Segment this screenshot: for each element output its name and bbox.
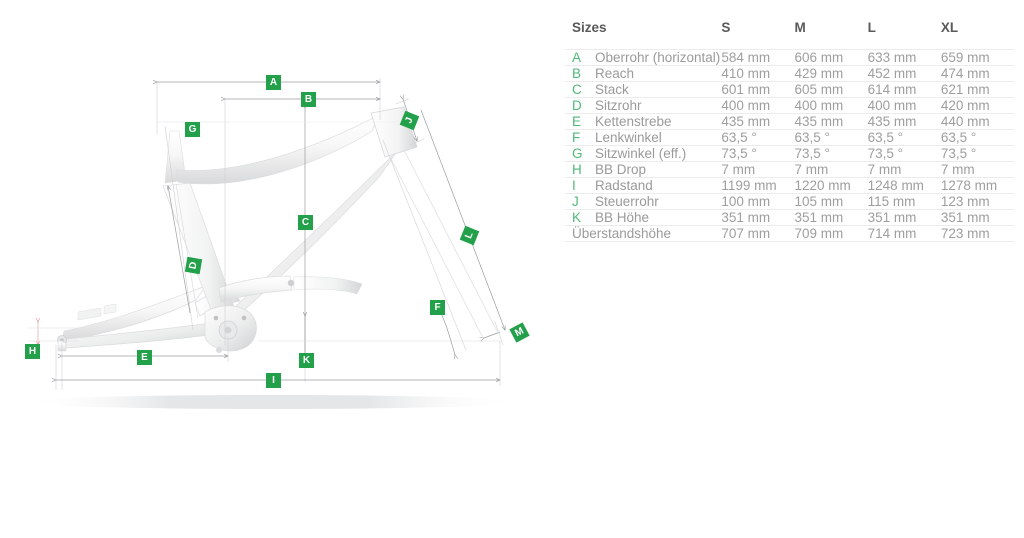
row-value: 621 mm bbox=[941, 82, 1014, 98]
row-name: Kettenstrebe bbox=[595, 114, 672, 129]
row-value: 123 mm bbox=[941, 194, 1014, 210]
row-label: KBB Höhe bbox=[565, 210, 721, 226]
geometry-diagram: A B C G D H E I K J L F M bbox=[0, 0, 560, 538]
row-name: Radstand bbox=[595, 178, 653, 193]
row-value: 435 mm bbox=[868, 114, 941, 130]
header-sizes: Sizes bbox=[565, 0, 721, 50]
row-value: 351 mm bbox=[868, 210, 941, 226]
row-label: EKettenstrebe bbox=[565, 114, 721, 130]
row-value: 63,5 ° bbox=[941, 130, 1014, 146]
row-value: 7 mm bbox=[795, 162, 868, 178]
row-name: Stack bbox=[595, 82, 629, 97]
row-label: CStack bbox=[565, 82, 721, 98]
row-value: 452 mm bbox=[868, 66, 941, 82]
row-label: JSteuerrohr bbox=[565, 194, 721, 210]
row-value: 400 mm bbox=[721, 98, 794, 114]
table-row: DSitzrohr400 mm400 mm400 mm420 mm bbox=[565, 98, 1014, 114]
row-label: IRadstand bbox=[565, 178, 721, 194]
row-label: FLenkwinkel bbox=[565, 130, 721, 146]
row-value: 605 mm bbox=[795, 82, 868, 98]
row-letter-badge: H bbox=[572, 162, 595, 177]
row-value: 659 mm bbox=[941, 50, 1014, 66]
row-value: 351 mm bbox=[721, 210, 794, 226]
row-letter-badge: A bbox=[572, 50, 595, 65]
row-value: 105 mm bbox=[795, 194, 868, 210]
table-row: FLenkwinkel63,5 °63,5 °63,5 °63,5 ° bbox=[565, 130, 1014, 146]
diagram-label-H: H bbox=[25, 344, 40, 359]
table-row: AOberrohr (horizontal)584 mm606 mm633 mm… bbox=[565, 50, 1014, 66]
row-name: Überstandshöhe bbox=[572, 226, 671, 241]
row-value: 351 mm bbox=[795, 210, 868, 226]
table-row: CStack601 mm605 mm614 mm621 mm bbox=[565, 82, 1014, 98]
row-value: 7 mm bbox=[868, 162, 941, 178]
row-letter-badge: B bbox=[572, 66, 595, 81]
row-name: Oberrohr (horizontal) bbox=[595, 50, 720, 65]
row-value: 7 mm bbox=[721, 162, 794, 178]
row-name: Steuerrohr bbox=[595, 194, 659, 209]
table-row: BReach410 mm429 mm452 mm474 mm bbox=[565, 66, 1014, 82]
row-label: Überstandshöhe bbox=[565, 226, 721, 242]
row-value: 584 mm bbox=[721, 50, 794, 66]
row-value: 440 mm bbox=[941, 114, 1014, 130]
row-value: 1248 mm bbox=[868, 178, 941, 194]
row-letter-badge: C bbox=[572, 82, 595, 97]
row-value: 63,5 ° bbox=[795, 130, 868, 146]
geometry-spec-table: Sizes S M L XL AOberrohr (horizontal)584… bbox=[565, 0, 1014, 241]
row-label: BReach bbox=[565, 66, 721, 82]
row-value: 723 mm bbox=[941, 226, 1014, 242]
row-value: 633 mm bbox=[868, 50, 941, 66]
row-value: 100 mm bbox=[721, 194, 794, 210]
row-value: 709 mm bbox=[795, 226, 868, 242]
table-bottom-divider bbox=[565, 241, 1014, 242]
row-label: AOberrohr (horizontal) bbox=[565, 50, 721, 66]
row-value: 614 mm bbox=[868, 82, 941, 98]
row-letter-badge: E bbox=[572, 114, 595, 129]
row-name: BB Drop bbox=[595, 162, 646, 177]
row-letter-badge: I bbox=[572, 178, 595, 193]
row-value: 63,5 ° bbox=[721, 130, 794, 146]
row-letter-badge: G bbox=[572, 146, 595, 161]
row-value: 400 mm bbox=[795, 98, 868, 114]
row-label: GSitzwinkel (eff.) bbox=[565, 146, 721, 162]
diagram-label-G: G bbox=[185, 122, 200, 137]
frame-graphic bbox=[58, 107, 418, 353]
row-label: DSitzrohr bbox=[565, 98, 721, 114]
row-name: Lenkwinkel bbox=[595, 130, 662, 145]
table-row: HBB Drop7 mm7 mm7 mm7 mm bbox=[565, 162, 1014, 178]
row-value: 435 mm bbox=[721, 114, 794, 130]
row-value: 73,5 ° bbox=[941, 146, 1014, 162]
row-value: 351 mm bbox=[941, 210, 1014, 226]
row-value: 400 mm bbox=[868, 98, 941, 114]
row-value: 707 mm bbox=[721, 226, 794, 242]
header-size-l: L bbox=[868, 0, 941, 50]
row-value: 115 mm bbox=[868, 194, 941, 210]
row-value: 63,5 ° bbox=[868, 130, 941, 146]
row-letter-badge: F bbox=[572, 130, 595, 145]
row-value: 1220 mm bbox=[795, 178, 868, 194]
diagram-label-B: B bbox=[301, 92, 316, 107]
table-row: JSteuerrohr100 mm105 mm115 mm123 mm bbox=[565, 194, 1014, 210]
row-value: 1278 mm bbox=[941, 178, 1014, 194]
row-value: 435 mm bbox=[795, 114, 868, 130]
table-row: EKettenstrebe435 mm435 mm435 mm440 mm bbox=[565, 114, 1014, 130]
ground-shadow bbox=[20, 395, 520, 409]
diagram-label-A: A bbox=[266, 75, 281, 90]
row-name: BB Höhe bbox=[595, 210, 649, 225]
row-name: Sitzrohr bbox=[595, 98, 642, 113]
row-letter-badge: D bbox=[572, 98, 595, 113]
row-letter-badge: J bbox=[572, 194, 595, 209]
row-value: 73,5 ° bbox=[795, 146, 868, 162]
geometry-spec-table-pane: Sizes S M L XL AOberrohr (horizontal)584… bbox=[560, 0, 1024, 538]
diagram-label-D: D bbox=[185, 257, 202, 274]
header-size-m: M bbox=[795, 0, 868, 50]
row-value: 73,5 ° bbox=[868, 146, 941, 162]
diagram-label-K: K bbox=[299, 353, 314, 368]
row-value: 410 mm bbox=[721, 66, 794, 82]
row-value: 474 mm bbox=[941, 66, 1014, 82]
row-value: 606 mm bbox=[795, 50, 868, 66]
row-name: Reach bbox=[595, 66, 634, 81]
header-size-xl: XL bbox=[941, 0, 1014, 50]
header-size-s: S bbox=[721, 0, 794, 50]
row-value: 420 mm bbox=[941, 98, 1014, 114]
row-value: 714 mm bbox=[868, 226, 941, 242]
row-label: HBB Drop bbox=[565, 162, 721, 178]
row-letter-badge: K bbox=[572, 210, 595, 225]
row-name: Sitzwinkel (eff.) bbox=[595, 146, 686, 161]
row-value: 7 mm bbox=[941, 162, 1014, 178]
table-row: Überstandshöhe707 mm709 mm714 mm723 mm bbox=[565, 226, 1014, 242]
diagram-label-E: E bbox=[137, 350, 152, 365]
row-value: 1199 mm bbox=[721, 178, 794, 194]
diagram-label-I: I bbox=[266, 373, 281, 388]
table-row: KBB Höhe351 mm351 mm351 mm351 mm bbox=[565, 210, 1014, 226]
diagram-label-C: C bbox=[298, 215, 313, 230]
table-row: IRadstand1199 mm1220 mm1248 mm1278 mm bbox=[565, 178, 1014, 194]
row-value: 429 mm bbox=[795, 66, 868, 82]
diagram-label-F: F bbox=[430, 300, 445, 315]
row-value: 73,5 ° bbox=[721, 146, 794, 162]
row-value: 601 mm bbox=[721, 82, 794, 98]
table-row: GSitzwinkel (eff.)73,5 °73,5 °73,5 °73,5… bbox=[565, 146, 1014, 162]
table-body: AOberrohr (horizontal)584 mm606 mm633 mm… bbox=[565, 50, 1014, 242]
table-header-row: Sizes S M L XL bbox=[565, 0, 1014, 50]
